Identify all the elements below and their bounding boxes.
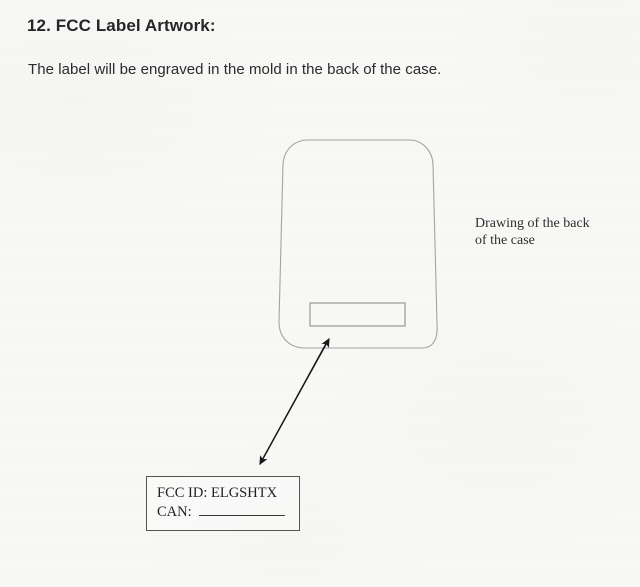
can-line: CAN:: [157, 503, 285, 522]
fcc-label-text: FCC ID: ELGSHTX CAN:: [157, 484, 285, 522]
caption-line-2: of the case: [475, 233, 535, 248]
case-body-path: [279, 140, 437, 348]
intro-paragraph: The label will be engraved in the mold i…: [28, 61, 441, 78]
caption-line-1: Drawing of the back: [475, 216, 590, 231]
fcc-id-line: FCC ID: ELGSHTX: [157, 484, 285, 503]
case-drawing-caption: Drawing of the back of the case: [475, 215, 590, 249]
page-title: 12. FCC Label Artwork:: [27, 16, 216, 36]
scanned-document-page: 12. FCC Label Artwork: The label will be…: [0, 0, 640, 587]
arrow-shaft-upper: [260, 339, 329, 464]
label-location-arrow: [238, 320, 353, 485]
fcc-label-artwork-box: FCC ID: ELGSHTX CAN:: [146, 476, 300, 531]
can-label: CAN:: [157, 503, 192, 522]
can-blank-field: [199, 503, 285, 516]
